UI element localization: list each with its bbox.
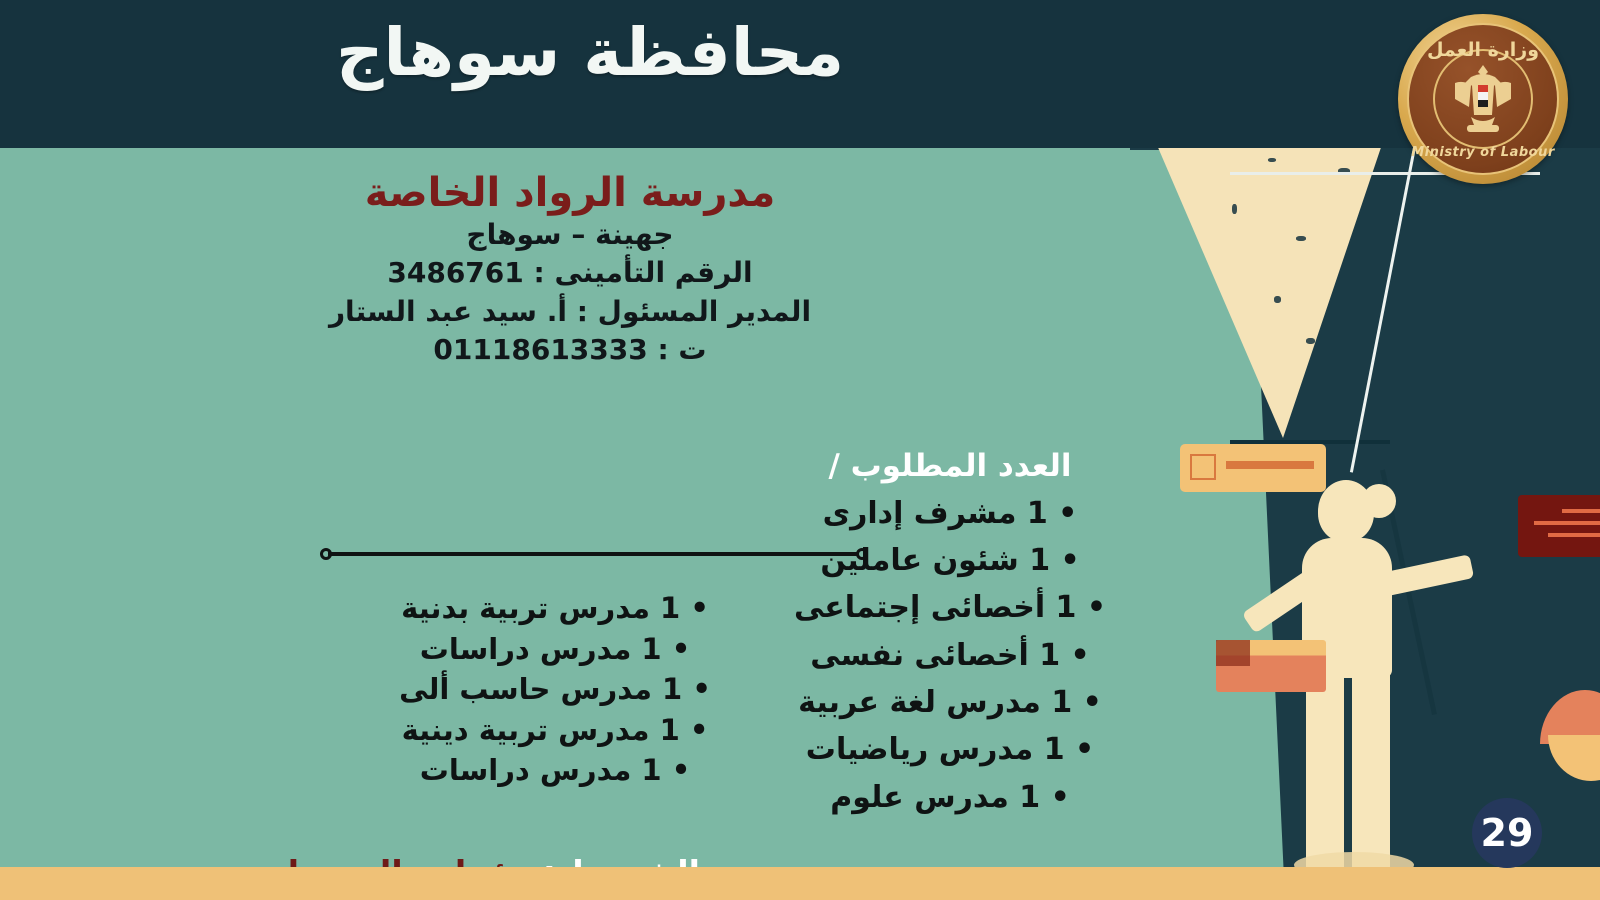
slide-canvas: وزارة العمل Ministry of Labour	[0, 0, 1600, 900]
list-item: • 1 مدرس دراسات	[365, 750, 745, 791]
ministry-of-labour-logo: وزارة العمل Ministry of Labour	[1398, 14, 1568, 184]
main-content: مدرسة الرواد الخاصة جهينة – سوهاج الرقم …	[0, 148, 1140, 900]
list-item: • 1 مدرس تربية بدنية	[365, 588, 745, 629]
list-item: • 1 أخصائى نفسى	[740, 632, 1160, 679]
vacancies-right-column: العدد المطلوب / • 1 مشرف إدارى • 1 شئون …	[740, 443, 1160, 821]
vacancies-left-column: • 1 مدرس تربية بدنية • 1 مدرس دراسات • 1…	[365, 588, 745, 791]
school-location: جهينة – سوهاج	[0, 216, 1140, 254]
logo-english-text: Ministry of Labour	[1409, 145, 1557, 160]
head-shape	[1318, 480, 1374, 542]
school-info-block: مدرسة الرواد الخاصة جهينة – سوهاج الرقم …	[0, 170, 1140, 369]
card-square-outline	[1190, 454, 1216, 480]
list-item: • 1 مدرس رياضيات	[740, 726, 1160, 773]
school-name: مدرسة الرواد الخاصة	[0, 170, 1140, 216]
bottom-strip	[0, 867, 1600, 900]
page-number: 29	[1481, 814, 1534, 852]
eagle-of-saladin-icon	[1441, 57, 1525, 141]
page-number-badge: 29	[1472, 798, 1542, 868]
insurance-number-line: الرقم التأمينى : 3486761	[0, 254, 1140, 292]
list-item: • 1 شئون عاملين	[740, 537, 1160, 584]
list-item: • 1 مدرس دراسات	[365, 629, 745, 670]
orange-card-graphic	[1216, 640, 1326, 692]
card-text-bar	[1226, 461, 1314, 469]
list-item: • 1 مدرس حاسب ألى	[365, 669, 745, 710]
list-item: • 1 مدرس تربية دينية	[365, 710, 745, 751]
vacancies-heading: العدد المطلوب /	[740, 443, 1160, 490]
list-item: • 1 أخصائى إجتماعى	[740, 584, 1160, 631]
phone-line: ت : 01118613333	[0, 331, 1140, 369]
left-leg-shape	[1306, 670, 1344, 870]
responsible-manager-line: المدير المسئول : أ. سيد عبد الستار	[0, 293, 1140, 331]
list-item: • 1 مدرس لغة عربية	[740, 679, 1160, 726]
card-texture-patch	[1216, 640, 1250, 666]
list-item: • 1 مشرف إدارى	[740, 490, 1160, 537]
page-title: محافظة سوهاج	[0, 14, 1180, 91]
right-leg-shape	[1352, 670, 1390, 870]
list-item: • 1 مدرس علوم	[740, 774, 1160, 821]
tan-card-graphic	[1180, 444, 1326, 492]
red-card-graphic	[1518, 495, 1600, 557]
